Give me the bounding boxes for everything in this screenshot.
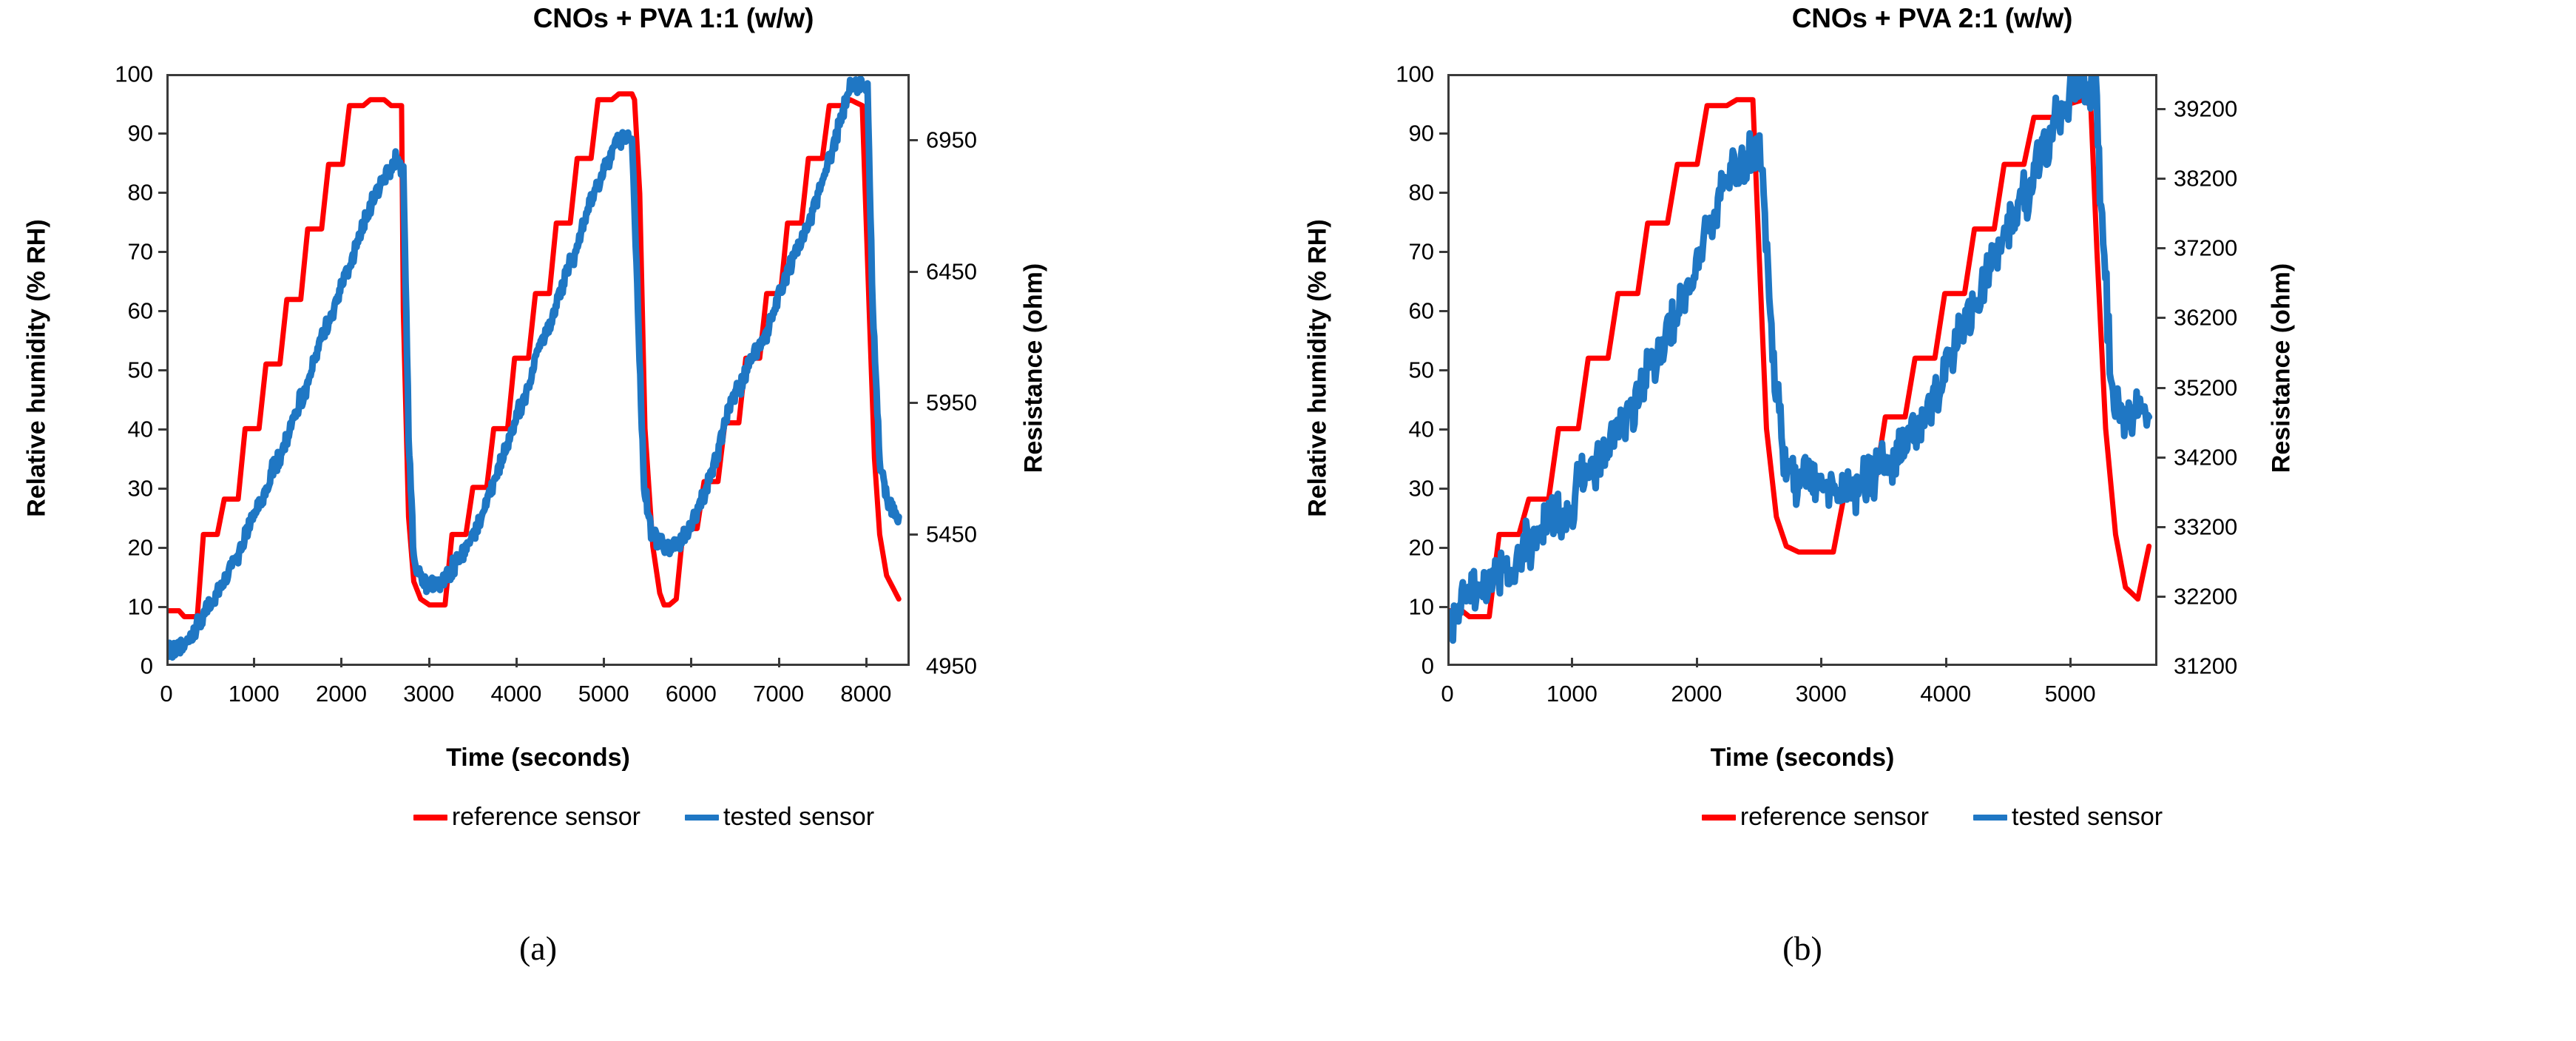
y-tickmark-left [158, 606, 168, 608]
y-tickmark-left [1439, 369, 1449, 371]
y-tickmark-left [158, 192, 168, 194]
subfigure-caption-a: (a) [464, 929, 612, 968]
x-tickmark [340, 658, 342, 667]
x-tickmark [1945, 658, 1947, 667]
legend-swatch-icon [1973, 815, 2007, 821]
x-tick-label: 2000 [1671, 682, 1722, 705]
y-tick-label-left: 0 [70, 655, 153, 678]
y-tickmark-right [2156, 387, 2166, 389]
x-tick-label: 5000 [578, 682, 629, 705]
y-tick-label-right: 39200 [2174, 98, 2285, 121]
series-line-reference-sensor [1450, 100, 2149, 617]
x-tickmark [603, 658, 605, 667]
y-tickmark-right [2156, 596, 2166, 598]
y-tick-label-right: 36200 [2174, 306, 2285, 329]
y-tickmark-left [158, 488, 168, 490]
x-tick-label: 0 [160, 682, 172, 705]
y-tick-label-left: 10 [1351, 596, 1434, 619]
y-tickmark-right [908, 271, 918, 273]
y-tickmark-right [908, 139, 918, 141]
x-tick-label: 4000 [1920, 682, 1971, 705]
y-tickmark-right [2156, 247, 2166, 249]
y-tick-label-right: 6450 [926, 260, 1037, 283]
x-tick-label: 6000 [666, 682, 717, 705]
series-line-tested-sensor [169, 78, 899, 657]
y-tickmark-left [158, 310, 168, 312]
y-tick-label-right: 6950 [926, 128, 1037, 151]
y-tick-label-left: 30 [1351, 477, 1434, 500]
y-tickmark-left [1439, 428, 1449, 431]
legend-item[interactable]: tested sensor [685, 803, 874, 832]
y-tick-label-right: 34200 [2174, 445, 2285, 468]
y-tickmark-left [158, 547, 168, 549]
x-tickmark [1696, 658, 1698, 667]
legend-label: tested sensor [723, 803, 874, 832]
y-tickmark-right [2156, 178, 2166, 180]
y-tick-label-left: 90 [1351, 122, 1434, 145]
x-tick-label: 7000 [753, 682, 804, 705]
x-axis-label-b: Time (seconds) [1447, 744, 2157, 772]
y-tick-label-left: 100 [1351, 63, 1434, 86]
x-tickmark [690, 658, 692, 667]
y-tick-label-left: 70 [1351, 240, 1434, 263]
plot-svg-a [169, 76, 907, 664]
x-tick-label: 3000 [403, 682, 454, 705]
y-tick-label-right: 5950 [926, 391, 1037, 414]
y-tick-label-left: 80 [70, 181, 153, 204]
legend-label: tested sensor [2012, 803, 2163, 832]
y-tick-label-left: 20 [1351, 536, 1434, 559]
y-tick-label-right: 4950 [926, 655, 1037, 678]
y-tickmark-left [1439, 488, 1449, 490]
y-tick-label-left: 60 [70, 300, 153, 323]
y-tick-label-right: 33200 [2174, 515, 2285, 538]
x-tick-label: 8000 [840, 682, 891, 705]
y-tick-label-left: 70 [70, 240, 153, 263]
y-tickmark-left [1439, 606, 1449, 608]
y-tick-label-left: 80 [1351, 181, 1434, 204]
series-line-tested-sensor [1450, 76, 2149, 641]
y-tickmark-left [158, 369, 168, 371]
y-tickmark-right [2156, 317, 2166, 319]
legend-label: reference sensor [1740, 803, 1929, 832]
chart-panel-a: CNOs + PVA 1:1 (w/w) Relative humidity (… [0, 0, 1288, 1041]
x-tickmark [515, 658, 518, 667]
x-tickmark [1571, 658, 1573, 667]
plot-svg-b [1450, 76, 2155, 664]
y-tickmark-left [158, 132, 168, 135]
legend-item[interactable]: tested sensor [1973, 803, 2163, 832]
y-axis-label-left-b: Relative humidity (% RH) [1304, 146, 1333, 590]
x-tickmark [1820, 658, 1822, 667]
legend-swatch-icon [685, 815, 719, 821]
legend-swatch-icon [1702, 815, 1736, 821]
y-tickmark-left [1439, 310, 1449, 312]
x-tick-label: 2000 [316, 682, 367, 705]
y-tickmark-left [158, 251, 168, 253]
y-tick-label-left: 90 [70, 122, 153, 145]
y-tick-label-left: 50 [1351, 359, 1434, 382]
chart-panel-b: CNOs + PVA 2:1 (w/w) Relative humidity (… [1288, 0, 2576, 1041]
y-tickmark-left [1439, 132, 1449, 135]
x-tickmark [253, 658, 255, 667]
plot-area-a [166, 74, 910, 666]
y-tick-label-left: 50 [70, 359, 153, 382]
legend-swatch-icon [413, 815, 447, 821]
legend-item[interactable]: reference sensor [1702, 803, 1929, 832]
x-tickmark [2069, 658, 2072, 667]
legend-label: reference sensor [452, 803, 640, 832]
x-tick-label: 3000 [1796, 682, 1847, 705]
y-tickmark-left [1439, 192, 1449, 194]
y-tick-label-left: 10 [70, 596, 153, 619]
y-tickmark-left [158, 428, 168, 431]
y-tickmark-right [2156, 457, 2166, 459]
plot-area-b [1447, 74, 2157, 666]
y-tickmark-right [2156, 108, 2166, 110]
x-tick-label: 0 [1441, 682, 1453, 705]
y-tick-label-left: 40 [70, 418, 153, 441]
legend-a: reference sensortested sensor [0, 803, 1288, 832]
x-tick-label: 1000 [1546, 682, 1598, 705]
x-tick-label: 4000 [490, 682, 541, 705]
x-tick-label: 5000 [2045, 682, 2096, 705]
y-tickmark-right [908, 402, 918, 404]
y-tick-label-right: 5450 [926, 523, 1037, 546]
y-tickmark-right [2156, 526, 2166, 528]
x-tickmark [428, 658, 430, 667]
y-axis-label-left-a: Relative humidity (% RH) [23, 146, 52, 590]
chart-title-b: CNOs + PVA 2:1 (w/w) [1288, 3, 2576, 34]
y-tickmark-left [1439, 547, 1449, 549]
y-tick-label-right: 32200 [2174, 584, 2285, 607]
y-tick-label-right: 38200 [2174, 167, 2285, 190]
legend-b: reference sensortested sensor [1288, 803, 2576, 832]
y-tick-label-left: 60 [1351, 300, 1434, 323]
y-tick-label-left: 30 [70, 477, 153, 500]
y-tick-label-right: 31200 [2174, 655, 2285, 678]
chart-title-a: CNOs + PVA 1:1 (w/w) [0, 3, 1317, 34]
y-tick-label-left: 20 [70, 536, 153, 559]
y-tick-label-right: 35200 [2174, 376, 2285, 399]
y-tickmark-right [908, 533, 918, 536]
y-tick-label-left: 0 [1351, 655, 1434, 678]
y-tick-label-left: 100 [70, 63, 153, 86]
x-tick-label: 1000 [229, 682, 280, 705]
y-tickmark-left [1439, 251, 1449, 253]
y-tick-label-right: 37200 [2174, 237, 2285, 260]
y-tick-label-left: 40 [1351, 418, 1434, 441]
x-tickmark [865, 658, 868, 667]
figure-container: CNOs + PVA 1:1 (w/w) Relative humidity (… [0, 0, 2576, 1041]
x-tickmark [778, 658, 780, 667]
legend-item[interactable]: reference sensor [413, 803, 640, 832]
subfigure-caption-b: (b) [1728, 929, 1876, 968]
x-axis-label-a: Time (seconds) [166, 744, 910, 772]
